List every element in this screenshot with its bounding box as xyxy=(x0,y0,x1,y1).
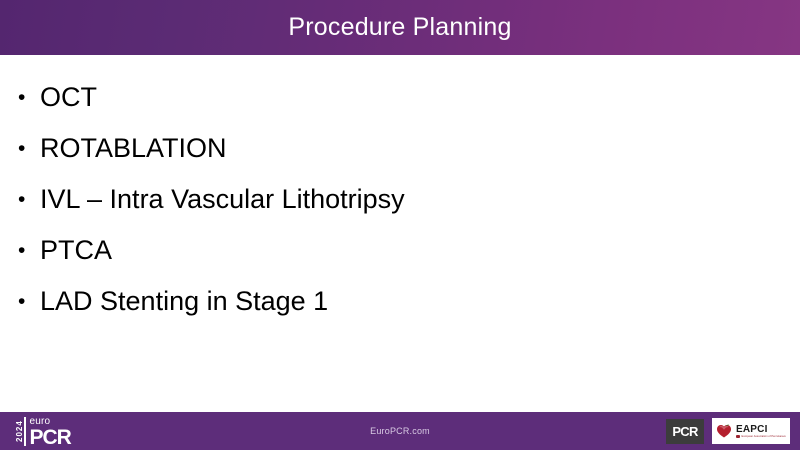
list-item-label: IVL – Intra Vascular Lithotripsy xyxy=(40,174,405,225)
list-item-label: ROTABLATION xyxy=(40,123,227,174)
bullet-dot-icon: • xyxy=(18,174,40,225)
bullet-dot-icon: • xyxy=(18,123,40,174)
bullet-list: • OCT • ROTABLATION • IVL – Intra Vascul… xyxy=(18,72,780,327)
page-title: Procedure Planning xyxy=(288,15,511,40)
eapci-logo-tagline: European Association of Percutaneous Car… xyxy=(742,435,787,439)
list-item-label: OCT xyxy=(40,72,97,123)
bullet-dot-icon: • xyxy=(18,276,40,327)
list-item: • ROTABLATION xyxy=(18,123,780,174)
eapci-logo: EAPCI European Association of Percutaneo… xyxy=(712,418,790,444)
slide-title-band: Procedure Planning xyxy=(0,0,800,55)
footer-logo-cluster: PCR EAPCI European Association of Percut… xyxy=(666,412,790,450)
list-item: • PTCA xyxy=(18,225,780,276)
slide: Procedure Planning • OCT • ROTABLATION •… xyxy=(0,0,800,450)
list-item: • LAD Stenting in Stage 1 xyxy=(18,276,780,327)
eapci-logo-tagline-wrap: European Association of Percutaneous Car… xyxy=(736,435,786,439)
list-item-label: PTCA xyxy=(40,225,112,276)
footer-website-label: EuroPCR.com xyxy=(370,426,430,436)
eapci-logo-name: EAPCI xyxy=(736,424,786,435)
slide-footer: 2024 euro PCR EuroPCR.com PCR EAPCI xyxy=(0,412,800,450)
pcr-logo: PCR xyxy=(666,419,704,444)
list-item-label: LAD Stenting in Stage 1 xyxy=(40,276,328,327)
list-item: • OCT xyxy=(18,72,780,123)
eapci-tagline-mark-icon xyxy=(736,435,740,438)
slide-body: • OCT • ROTABLATION • IVL – Intra Vascul… xyxy=(0,55,800,412)
heart-icon xyxy=(716,423,732,439)
bullet-dot-icon: • xyxy=(18,72,40,123)
list-item: • IVL – Intra Vascular Lithotripsy xyxy=(18,174,780,225)
eapci-logo-text: EAPCI European Association of Percutaneo… xyxy=(736,424,786,439)
bullet-dot-icon: • xyxy=(18,225,40,276)
